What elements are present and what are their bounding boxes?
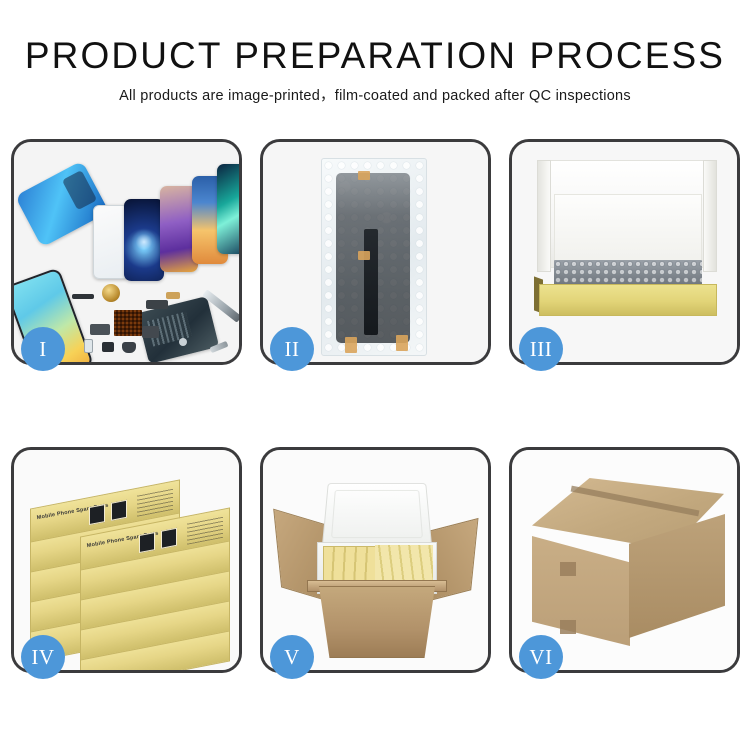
process-step-grid: I II — [11, 139, 739, 673]
carton-tape-mark-1 — [560, 562, 576, 576]
box-lid-right-flap — [703, 160, 717, 272]
yellow-box-front-panel — [539, 284, 717, 316]
box-window-2 — [161, 528, 177, 549]
process-step-3: III — [509, 139, 740, 365]
tape-strip-1 — [358, 171, 370, 180]
header: PRODUCT PREPARATION PROCESS All products… — [0, 34, 750, 105]
box-lid-left-flap — [537, 160, 551, 272]
process-step-1: I — [11, 139, 242, 365]
phone-screen-dark-blue — [124, 199, 164, 281]
step-badge-1: I — [21, 327, 65, 371]
bubble-wrap-bag — [321, 158, 427, 356]
step-badge-2: II — [270, 327, 314, 371]
small-part-4 — [166, 292, 180, 299]
coil-component-icon — [102, 284, 120, 302]
process-step-6: VI — [509, 447, 740, 673]
flex-cable-part-2 — [146, 300, 168, 309]
step-badge-3: III — [519, 327, 563, 371]
page-subtitle: All products are image-printed，film-coat… — [0, 87, 750, 105]
box-window-1 — [139, 532, 155, 553]
box-window-1 — [89, 504, 105, 525]
small-part-3 — [122, 342, 136, 353]
flex-cable-part-1 — [90, 324, 110, 335]
white-foam-insert — [554, 194, 702, 270]
screw-tray-icon — [114, 310, 142, 336]
page-title: PRODUCT PREPARATION PROCESS — [0, 34, 750, 78]
product-preparation-process-page: PRODUCT PREPARATION PROCESS All products… — [0, 0, 750, 750]
phone-screen-teal — [217, 164, 239, 254]
box-window-2 — [111, 500, 127, 521]
flex-cable-part-3 — [142, 326, 159, 338]
tape-strip-4 — [396, 335, 408, 351]
small-part-5 — [179, 338, 187, 346]
process-step-4: Mobile Phone Spare Parts Mobile Phone Sp… — [11, 447, 242, 673]
kraft-box-stack: Mobile Phone Spare Parts Mobile Phone Sp… — [22, 468, 234, 664]
foam-box-lid — [322, 483, 432, 547]
tape-strip-3 — [345, 337, 357, 353]
step-badge-5: V — [270, 635, 314, 679]
process-step-5: V — [260, 447, 491, 673]
small-part-2 — [102, 342, 114, 352]
wrapped-flex-cable — [364, 229, 378, 335]
process-step-2: II — [260, 139, 491, 365]
step-badge-4: IV — [21, 635, 65, 679]
small-part-1 — [84, 339, 93, 353]
carton-front-face — [532, 536, 630, 646]
box-spec-lines — [137, 488, 173, 517]
grey-bubble-wrap-layer — [554, 260, 702, 286]
speaker-part — [72, 294, 94, 299]
box-spec-lines — [187, 516, 223, 545]
carton-tape-mark-2 — [560, 620, 576, 634]
tape-strip-2 — [358, 251, 370, 260]
step-badge-6: VI — [519, 635, 563, 679]
carton-body — [311, 586, 443, 658]
